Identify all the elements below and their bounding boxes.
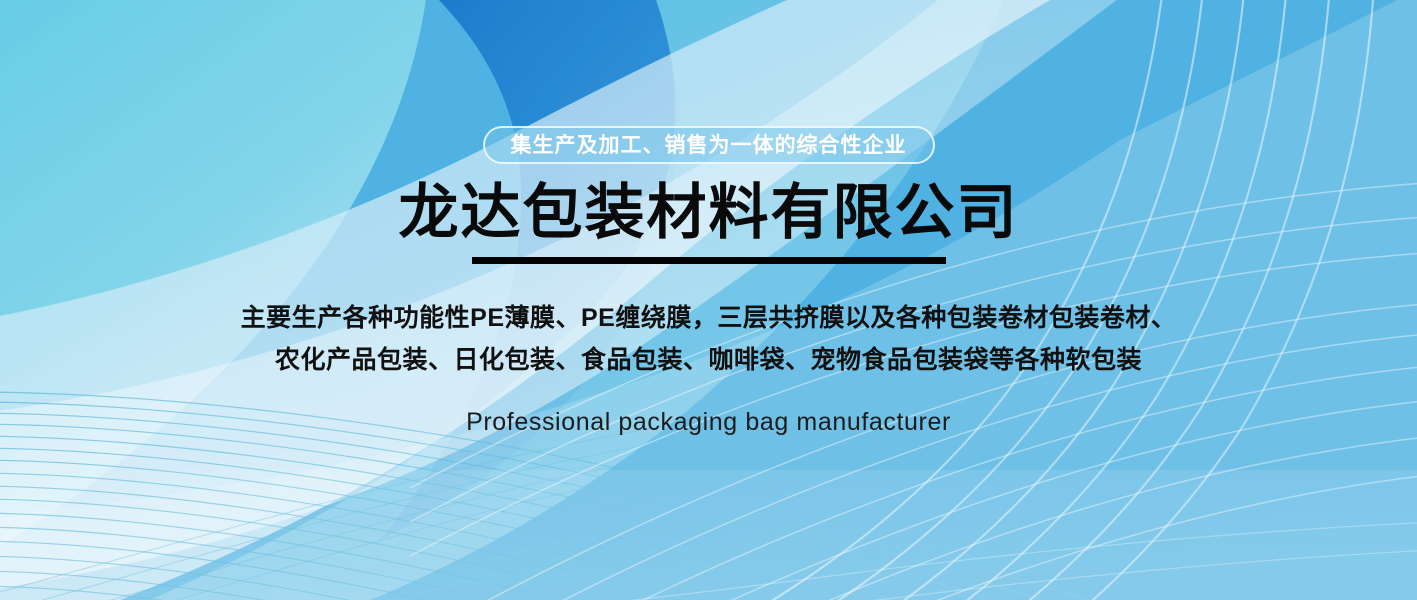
banner-content: 集生产及加工、销售为一体的综合性企业 龙达包装材料有限公司 主要生产各种功能性P… — [0, 0, 1417, 600]
description-line-2: 农化产品包装、日化包装、食品包装、咖啡袋、宠物食品包装袋等各种软包装 — [241, 339, 1177, 381]
tagline-badge: 集生产及加工、销售为一体的综合性企业 — [483, 126, 935, 164]
tagline-badge-label: 集生产及加工、销售为一体的综合性企业 — [511, 135, 907, 156]
description-line-1: 主要生产各种功能性PE薄膜、PE缠绕膜，三层共挤膜以及各种包装卷材包装卷材、 — [241, 297, 1177, 339]
description-block: 主要生产各种功能性PE薄膜、PE缠绕膜，三层共挤膜以及各种包装卷材包装卷材、 农… — [241, 297, 1177, 381]
hero-banner: 集生产及加工、销售为一体的综合性企业 龙达包装材料有限公司 主要生产各种功能性P… — [0, 0, 1417, 600]
english-tagline: Professional packaging bag manufacturer — [466, 408, 951, 437]
title-underline — [472, 257, 946, 264]
company-title: 龙达包装材料有限公司 — [399, 181, 1019, 246]
title-block: 龙达包装材料有限公司 — [399, 181, 1019, 264]
